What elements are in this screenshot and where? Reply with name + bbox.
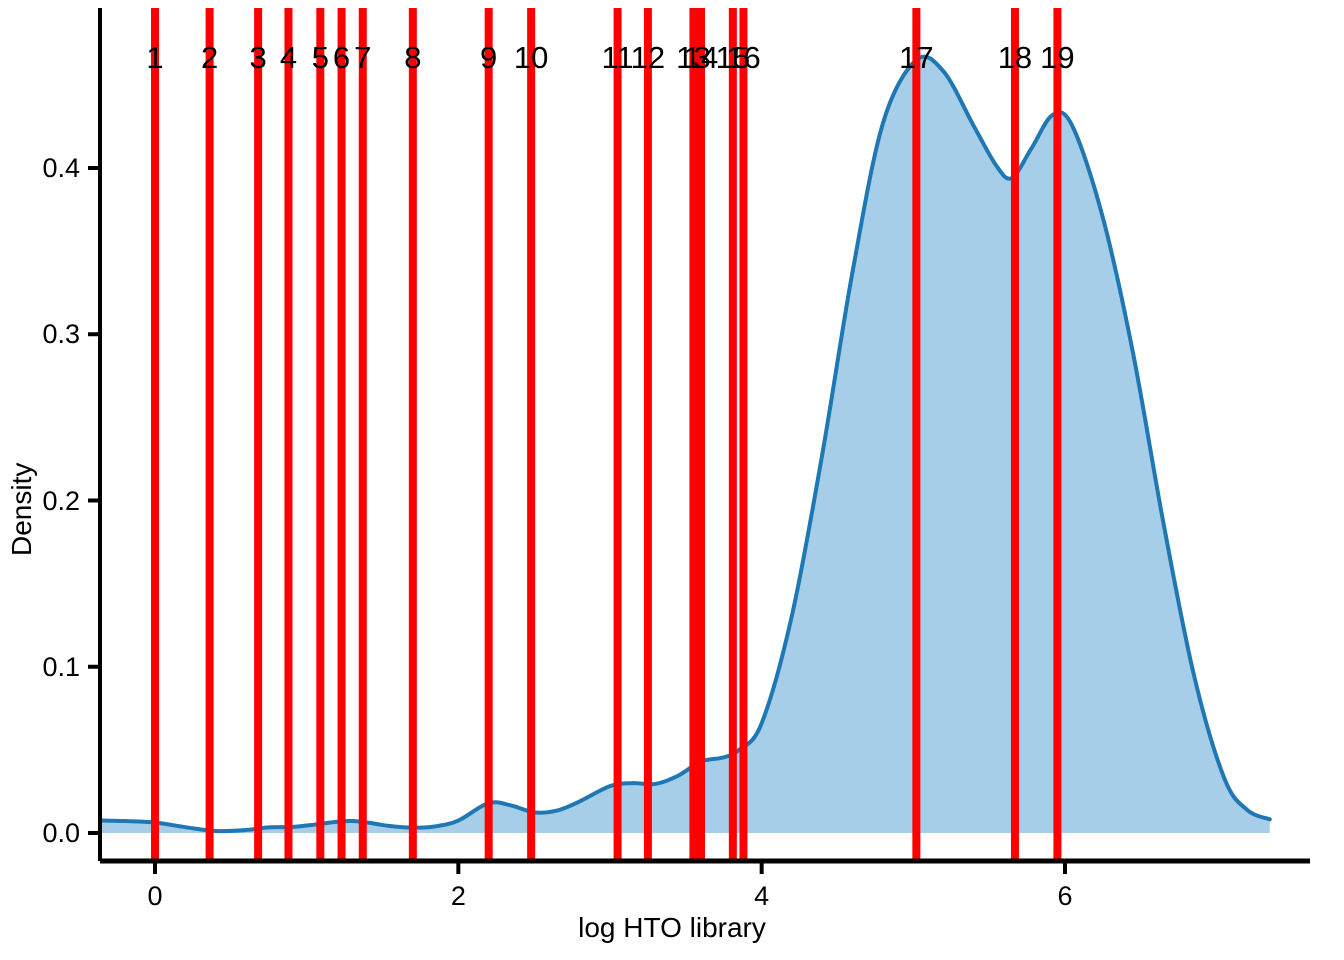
x-tick-label-6: 6 — [1025, 883, 1105, 910]
x-axis-title: log HTO library — [0, 912, 1344, 944]
x-tick-label-2: 2 — [418, 883, 498, 910]
y-tick-label-0.1: 0.1 — [42, 654, 80, 681]
plot-canvas — [0, 0, 1344, 960]
vline-label-17: 17 — [876, 42, 956, 73]
y-tick-label-0.4: 0.4 — [42, 155, 80, 182]
y-tick-label-0.0: 0.0 — [42, 820, 80, 847]
y-tick-label-0.3: 0.3 — [42, 321, 80, 348]
density-area-fill — [102, 57, 1270, 833]
vline-label-8: 8 — [373, 42, 453, 73]
y-axis-title: Density — [6, 463, 38, 556]
y-tick-label-0.2: 0.2 — [42, 488, 80, 515]
x-tick-label-4: 4 — [722, 883, 802, 910]
vline-label-19: 19 — [1017, 42, 1097, 73]
vline-label-10: 10 — [491, 42, 571, 73]
density-plot: 0.00.10.20.30.40246123456789101112131415… — [0, 0, 1344, 960]
vline-label-16: 16 — [703, 42, 783, 73]
x-tick-label-0: 0 — [115, 883, 195, 910]
